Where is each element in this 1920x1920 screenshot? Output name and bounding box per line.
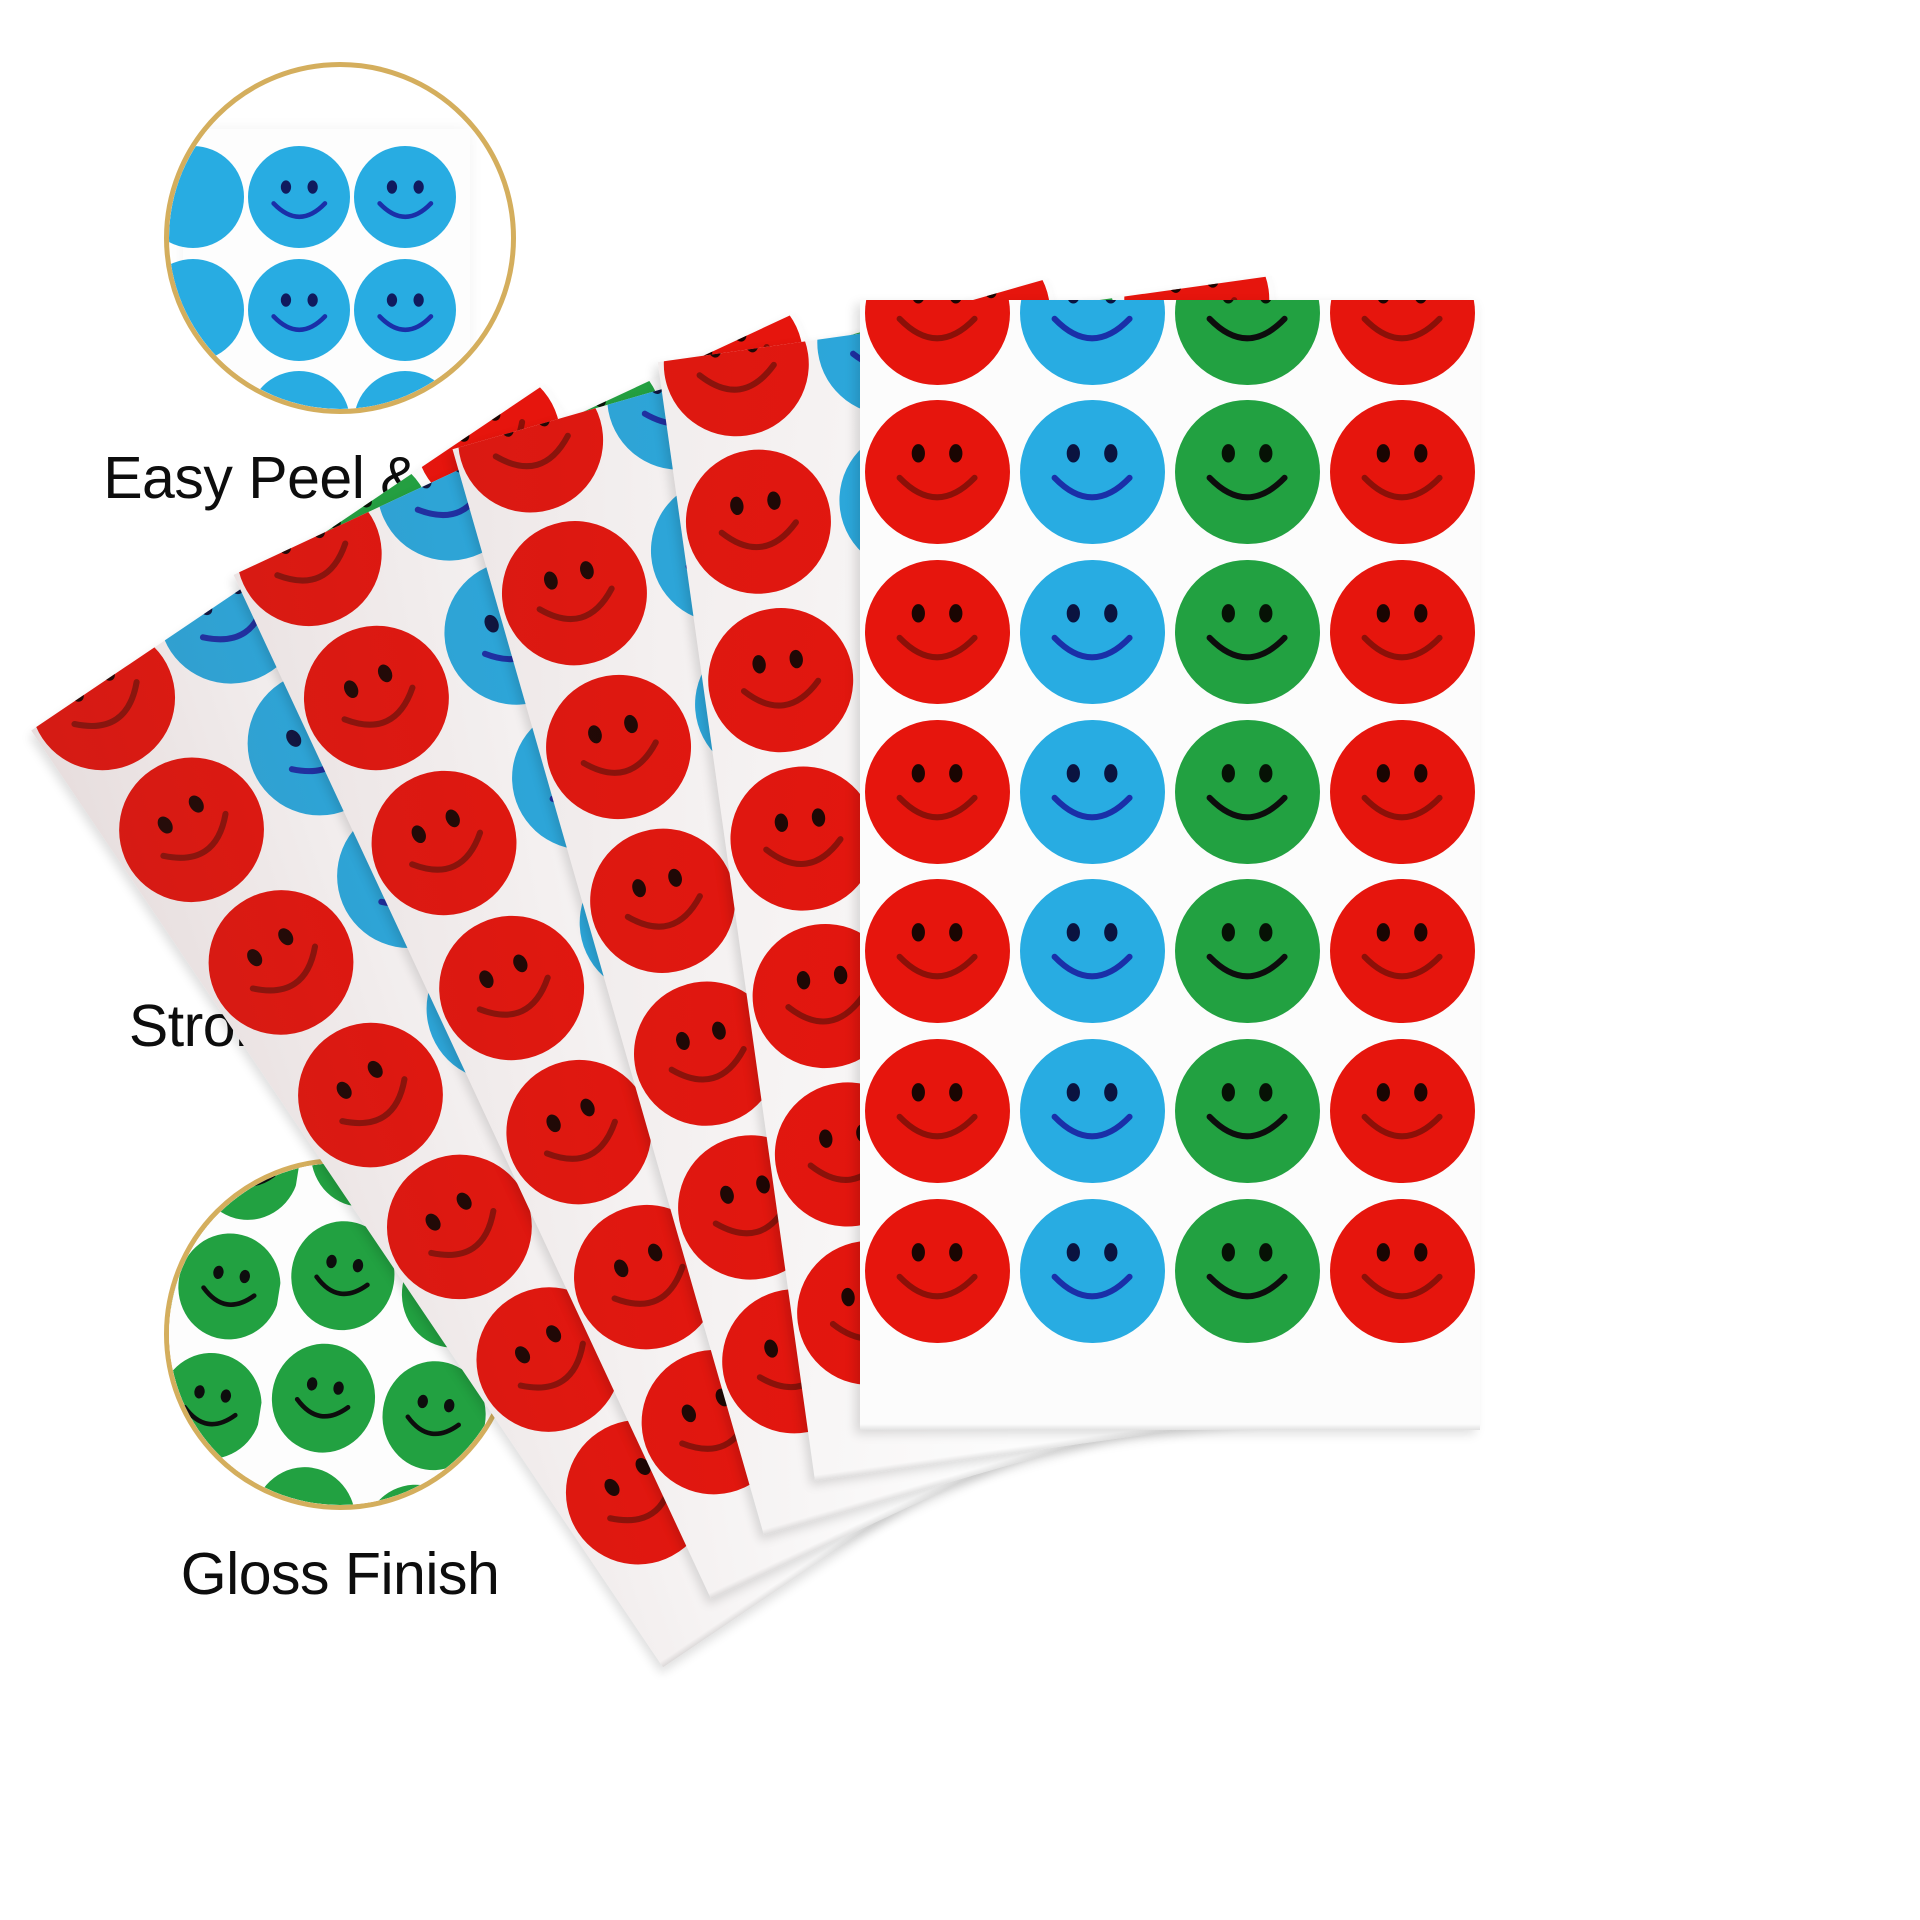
red-smiley-sticker — [1330, 1039, 1474, 1183]
smiley-face-icon — [1020, 1039, 1164, 1183]
red-smiley-sticker — [1330, 720, 1474, 864]
smiley-face-icon — [699, 599, 862, 762]
smiley-face-icon — [1330, 560, 1474, 704]
smiley-face-icon — [244, 1460, 363, 1505]
red-smiley-sticker — [865, 720, 1009, 864]
red-smiley-sticker — [1330, 879, 1474, 1023]
red-smiley-sticker — [865, 400, 1009, 544]
smiley-face-icon — [1020, 879, 1164, 1023]
smiley-face-icon — [1175, 560, 1319, 704]
smiley-face-icon — [658, 283, 818, 446]
red-smiley-sticker — [1330, 300, 1474, 385]
blue-smiley-sticker — [1020, 400, 1164, 544]
red-smiley-sticker — [865, 879, 1009, 1023]
red-smiley-sticker — [658, 283, 818, 446]
blue-smiley-dot — [248, 259, 351, 362]
smiley-face-icon — [1330, 1199, 1474, 1343]
smiley-face-icon — [1020, 400, 1164, 544]
smiley-face-icon — [529, 658, 707, 836]
smiley-face-icon — [171, 1225, 289, 1346]
smiley-face-icon — [1330, 400, 1474, 544]
smiley-face-icon — [865, 400, 1009, 544]
green-smiley-sticker — [1175, 720, 1319, 864]
blue-smiley-sticker — [1020, 879, 1164, 1023]
smiley-face-icon — [1330, 300, 1474, 385]
blue-smiley-sheet-macro-icon — [169, 67, 511, 409]
green-smiley-sticker — [1175, 1199, 1319, 1343]
blue-smiley-sticker — [1020, 1039, 1164, 1183]
smiley-face-icon — [248, 146, 351, 249]
smiley-face-icon — [354, 1477, 473, 1505]
green-smiley-sticker — [1175, 1039, 1319, 1183]
blue-smiley-sticker — [1020, 720, 1164, 864]
green-smiley-sticker — [1175, 300, 1319, 385]
red-smiley-sticker — [1330, 560, 1474, 704]
sheet-bottom-edge — [860, 1424, 1480, 1430]
smiley-face-icon — [1020, 560, 1164, 704]
red-smiley-sticker — [865, 1199, 1009, 1343]
blue-smiley-sticker — [1020, 300, 1164, 385]
smiley-face-icon — [1020, 300, 1164, 385]
red-smiley-sticker — [1330, 1199, 1474, 1343]
blue-smiley-dot — [248, 146, 351, 249]
green-smiley-sticker — [1175, 879, 1319, 1023]
product-feature-image: Easy Peel & Apply — [0, 0, 1920, 1920]
smiley-face-icon — [263, 1336, 382, 1460]
blue-smiley-dot — [354, 259, 457, 362]
smiley-face-icon — [1175, 1199, 1319, 1343]
smiley-face-icon — [865, 560, 1009, 704]
smiley-face-icon — [677, 441, 840, 604]
red-smiley-sticker — [529, 658, 707, 836]
sticker-sheet-fan — [560, 180, 1920, 1580]
badge-easy-peel — [164, 62, 516, 414]
blue-smiley-sticker — [1020, 1199, 1164, 1343]
red-smiley-sticker — [1330, 400, 1474, 544]
smiley-face-icon — [865, 720, 1009, 864]
blue-smiley-dot — [354, 146, 457, 249]
smiley-face-icon — [354, 146, 457, 249]
red-smiley-sticker — [865, 300, 1009, 385]
smiley-face-icon — [1175, 1039, 1319, 1183]
smiley-face-icon — [169, 1465, 251, 1505]
smiley-face-icon — [1175, 879, 1319, 1023]
red-smiley-sticker — [677, 441, 840, 604]
smiley-face-icon — [865, 1039, 1009, 1183]
red-smiley-sticker — [699, 599, 862, 762]
green-smiley-sticker — [1175, 400, 1319, 544]
green-smiley-sticker — [1175, 560, 1319, 704]
smiley-face-icon — [1020, 720, 1164, 864]
smiley-face-icon — [1330, 879, 1474, 1023]
red-smiley-sticker — [865, 1039, 1009, 1183]
smiley-face-icon — [865, 879, 1009, 1023]
smiley-face-icon — [1330, 1039, 1474, 1183]
smiley-face-icon — [1175, 400, 1319, 544]
sticker-sheet — [860, 300, 1480, 1430]
smiley-face-icon — [248, 259, 351, 362]
smiley-face-icon — [865, 300, 1009, 385]
red-smiley-sticker — [865, 560, 1009, 704]
smiley-face-icon — [354, 259, 457, 362]
smiley-face-icon — [1330, 720, 1474, 864]
smiley-face-icon — [1020, 1199, 1164, 1343]
smiley-face-icon — [1175, 300, 1319, 385]
red-smiley-sticker — [485, 504, 663, 682]
smiley-face-icon — [865, 1199, 1009, 1343]
blue-smiley-sticker — [1020, 560, 1164, 704]
smiley-face-icon — [1175, 720, 1319, 864]
smiley-face-icon — [485, 504, 663, 682]
